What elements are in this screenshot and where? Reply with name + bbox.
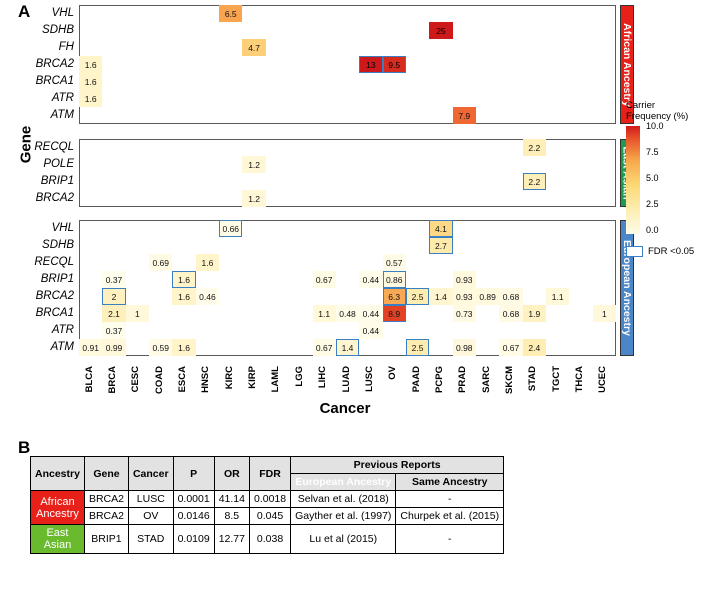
heatmap-cell-brca1-brca: 2.1 [102,305,125,322]
ancestry-bar-label: African Ancestry [621,23,633,107]
x-tick-laml: LAML [270,366,284,392]
heatmap-cell-brca2-blca: 1.6 [79,56,102,73]
heatmap-cell-atr-blca: 1.6 [79,90,102,107]
heatmap-cell-atr-brca: 0.37 [102,322,125,339]
heatmap-cell-brca2-ov: 9.5 [383,56,406,73]
heatmap-cell-brip1-esca: 1.6 [172,271,195,288]
heatmap-cell-brca1-cesc: 1 [126,305,149,322]
heatmap-cell-atm-luad: 1.4 [336,339,359,356]
heatmap-cell-brca2-ov: 6.3 [383,288,406,305]
heatmap-cell-brca2-brca: 2 [102,288,125,305]
gene-label-brca2: BRCA2 [0,288,74,305]
heatmap-cell-fh-kirp: 4.7 [242,39,265,56]
table-row: BRCA2OV0.01468.50.045Gayther et al. (199… [31,508,504,525]
cell-fdr: 0.0018 [249,491,290,508]
heatmap-cell-brca2-paad: 2.5 [406,288,429,305]
heatmap-cell-brca1-lihc: 1.1 [313,305,336,322]
heatmap-subplot-2 [79,220,616,356]
header-gene: Gene [84,457,128,491]
gene-label-atr: ATR [0,90,74,107]
gene-label-sdhb: SDHB [0,22,74,39]
heatmap-cell-vhl-kirc: 0.66 [219,220,242,237]
heatmap-cell-brca2-hnsc: 0.46 [196,288,219,305]
x-tick-coad: COAD [154,366,168,394]
table-row: EastAsianBRIP1STAD0.010912.770.038Lu et … [31,525,504,554]
heatmap-cell-sdhb-pcpg: 25 [429,22,452,39]
gene-label-brca1: BRCA1 [0,73,74,90]
x-tick-cesc: CESC [130,366,144,392]
x-tick-esca: ESCA [177,366,191,392]
header-european-ancestry: European Ancestry [291,474,396,491]
table-header-row-1: Ancestry Gene Cancer P OR FDR Previous R… [31,457,504,474]
heatmap-cell-recql-ov: 0.57 [383,254,406,271]
cell-p: 0.0109 [173,525,214,554]
gene-label-vhl: VHL [0,220,74,237]
cell-or: 41.14 [214,491,249,508]
x-tick-paad: PAAD [411,366,425,392]
cell-prev-european: Gayther et al. (1997) [291,508,396,525]
cell-ancestry-east-asian: EastAsian [31,525,85,554]
heatmap-cell-atm-esca: 1.6 [172,339,195,356]
cell-prev-same: - [396,525,504,554]
ancestry-bar-european-ancestry: European Ancestry [620,220,634,356]
fdr-legend-key: FDR <0.05 [626,246,694,257]
colorbar-tick-5: 5.0 [646,173,659,183]
panel-b-letter: B [18,438,30,458]
table-head: Ancestry Gene Cancer P OR FDR Previous R… [31,457,504,491]
heatmap-cell-sdhb-pcpg: 2.7 [429,237,452,254]
cell-prev-european: Selvan et al. (2018) [291,491,396,508]
header-fdr: FDR [249,457,290,491]
x-tick-blca: BLCA [84,366,98,392]
heatmap-cell-brca2-skcm: 0.68 [499,288,522,305]
gene-label-brip1: BRIP1 [0,271,74,288]
cell-or: 8.5 [214,508,249,525]
heatmap-cell-vhl-kirc: 6.5 [219,5,242,22]
cell-cancer: OV [128,508,173,525]
colorbar-tick-7-5: 7.5 [646,147,659,157]
gene-labels-2: VHLSDHBRECQLBRIP1BRCA2BRCA1ATRATM [0,220,74,356]
heatmap-cell-brca2-tgct: 1.1 [546,288,569,305]
gene-label-fh: FH [0,39,74,56]
heatmap-cell-atm-prad: 7.9 [453,107,476,124]
heatmap-cell-atm-coad: 0.59 [149,339,172,356]
heatmap-cell-brca1-ucec: 1 [593,305,616,322]
legend-title-line1: Carrier [626,100,709,111]
x-tick-stad: STAD [527,366,541,391]
gene-label-brca2: BRCA2 [0,56,74,73]
gene-labels-1: RECQLPOLEBRIP1BRCA2 [0,139,74,207]
heatmap-cell-recql-hnsc: 1.6 [196,254,219,271]
legend-title-line2: Frequency (%) [626,111,709,122]
header-previous-reports: Previous Reports [291,457,504,474]
gene-label-brca1: BRCA1 [0,305,74,322]
heatmap-cell-atm-prad: 0.98 [453,339,476,356]
heatmap-cell-pole-kirp: 1.2 [242,156,265,173]
colorbar-wrap: 10.0 7.5 5.0 2.5 0.0 [626,126,702,234]
gene-label-atm: ATM [0,339,74,356]
heatmap-cell-brca2-prad: 0.93 [453,288,476,305]
heatmap-cell-brca2-pcpg: 1.4 [429,288,452,305]
gene-label-brip1: BRIP1 [0,173,74,190]
heatmap-cell-atm-skcm: 0.67 [499,339,522,356]
colorbar-gradient [626,126,640,234]
cell-prev-same: Churpek et al. (2015) [396,508,504,525]
heatmap-cell-atm-lihc: 0.67 [313,339,336,356]
x-tick-pcpg: PCPG [434,366,448,393]
header-p: P [173,457,214,491]
heatmap-cell-brip1-brca: 0.37 [102,271,125,288]
x-tick-kirp: KIRP [247,366,261,389]
heatmap-cell-atm-blca: 0.91 [79,339,102,356]
header-cancer: Cancer [128,457,173,491]
heatmap-cell-brip1-stad: 2.2 [523,173,546,190]
cell-gene: BRIP1 [84,525,128,554]
x-tick-brca: BRCA [107,366,121,393]
cell-cancer: LUSC [128,491,173,508]
heatmap-cell-atm-paad: 2.5 [406,339,429,356]
cell-cancer: STAD [128,525,173,554]
heatmap-cell-brca1-lusc: 0.44 [359,305,382,322]
header-or: OR [214,457,249,491]
x-tick-lgg: LGG [294,366,308,387]
x-tick-ucec: UCEC [597,366,611,393]
x-tick-luad: LUAD [341,366,355,392]
x-tick-skcm: SKCM [504,366,518,394]
heatmap-cell-brca1-luad: 0.48 [336,305,359,322]
heatmap-cell-brca2-esca: 1.6 [172,288,195,305]
cell-prev-european: Lu et al (2015) [291,525,396,554]
heatmap-cell-brip1-lihc: 0.67 [313,271,336,288]
gene-label-brca2: BRCA2 [0,190,74,207]
colorbar-tick-2-5: 2.5 [646,199,659,209]
heatmap-cell-brca2-lusc: 13 [359,56,382,73]
heatmap-cell-brip1-lusc: 0.44 [359,271,382,288]
heatmap-cell-brca1-stad: 1.9 [523,305,546,322]
gene-label-vhl: VHL [0,5,74,22]
x-tick-lihc: LIHC [317,366,331,388]
cell-prev-same: - [396,491,504,508]
gene-labels-0: VHLSDHBFHBRCA2BRCA1ATRATM [0,5,74,124]
gene-label-sdhb: SDHB [0,237,74,254]
cell-ancestry-african: AfricanAncestry [31,491,85,525]
cell-fdr: 0.038 [249,525,290,554]
heatmap-cell-brca1-prad: 0.73 [453,305,476,322]
heatmap-cell-brip1-ov: 0.86 [383,271,406,288]
cell-fdr: 0.045 [249,508,290,525]
results-table: Ancestry Gene Cancer P OR FDR Previous R… [30,456,504,554]
fdr-box-swatch [626,246,643,257]
header-same-ancestry: Same Ancestry [396,474,504,491]
cell-gene: BRCA2 [84,508,128,525]
heatmap-subplot-0 [79,5,616,124]
gene-label-atr: ATR [0,322,74,339]
header-ancestry: Ancestry [31,457,85,491]
colorbar-tick-10: 10.0 [646,121,664,131]
x-axis-title: Cancer [205,400,485,417]
heatmap-cell-recql-coad: 0.69 [149,254,172,271]
heatmap-cell-brca1-blca: 1.6 [79,73,102,90]
heatmap-cell-brca1-skcm: 0.68 [499,305,522,322]
heatmap-cell-vhl-pcpg: 4.1 [429,220,452,237]
colorbar-tick-0: 0.0 [646,225,659,235]
heatmap-cell-brca1-ov: 8.9 [383,305,406,322]
heatmap-cell-atm-stad: 2.4 [523,339,546,356]
gene-label-recql: RECQL [0,139,74,156]
x-tick-kirc: KIRC [224,366,238,389]
x-tick-prad: PRAD [457,366,471,393]
x-tick-lusc: LUSC [364,366,378,392]
x-tick-hnsc: HNSC [200,366,214,393]
heatmap-cell-brca2-kirp: 1.2 [242,190,265,207]
cell-p: 0.0001 [173,491,214,508]
panel-a-heatmap: A Gene Cancer VHLSDHBFHBRCA2BRCA1ATRATM6… [0,0,709,430]
cell-gene: BRCA2 [84,491,128,508]
gene-label-atm: ATM [0,107,74,124]
x-tick-thca: THCA [574,366,588,392]
legend: Carrier Frequency (%) 10.0 7.5 5.0 2.5 0… [626,100,709,122]
heatmap-cell-atm-brca: 0.99 [102,339,125,356]
x-tick-sarc: SARC [481,366,495,393]
heatmap-cell-brca2-sarc: 0.89 [476,288,499,305]
x-tick-tgct: TGCT [551,366,565,392]
cell-or: 12.77 [214,525,249,554]
cell-p: 0.0146 [173,508,214,525]
heatmap-cell-brip1-prad: 0.93 [453,271,476,288]
heatmap-cell-atr-lusc: 0.44 [359,322,382,339]
fdr-legend-label: FDR <0.05 [648,246,694,257]
table-body: AfricanAncestryBRCA2LUSC0.000141.140.001… [31,491,504,554]
gene-label-pole: POLE [0,156,74,173]
heatmap-cell-recql-stad: 2.2 [523,139,546,156]
x-tick-ov: OV [387,366,401,380]
table-row: AfricanAncestryBRCA2LUSC0.000141.140.001… [31,491,504,508]
gene-label-recql: RECQL [0,254,74,271]
